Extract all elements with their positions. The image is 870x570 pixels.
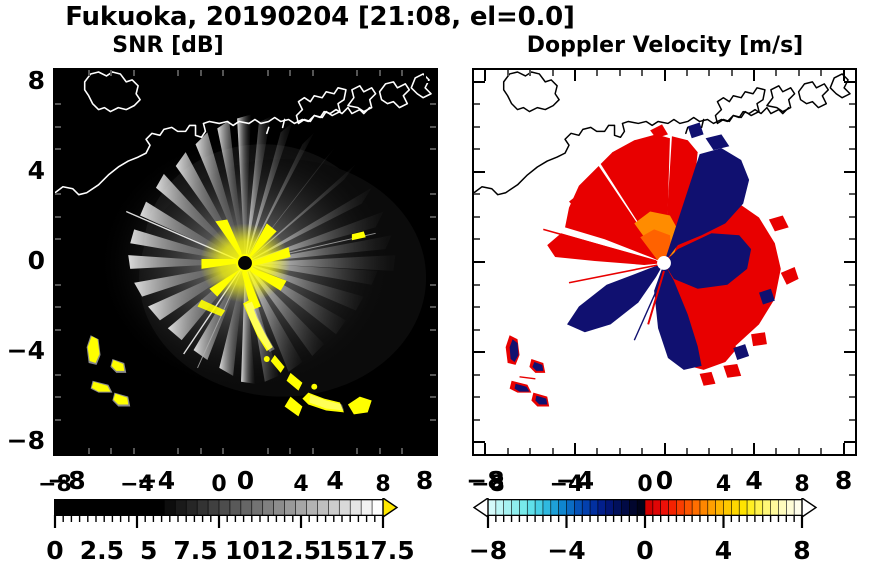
colorbar-swatch xyxy=(285,500,296,515)
colorbar-bottom-label-15: 15 xyxy=(306,536,366,565)
colorbar-swatch xyxy=(786,500,794,515)
colorbar-swatch xyxy=(132,500,143,515)
x-axis-label-4: 4 xyxy=(305,466,365,495)
colorbar-swatch xyxy=(197,500,208,515)
colorbar-swatch xyxy=(164,500,175,515)
colorbar-swatch xyxy=(339,500,350,515)
colorbar-bottom-label-4: 4 xyxy=(694,536,754,565)
y-axis-label-4: 4 xyxy=(0,156,45,185)
colorbar-top-label-8: 8 xyxy=(772,472,832,497)
colorbar-swatch xyxy=(252,500,263,515)
colorbar-bottom-label-10: 10 xyxy=(212,536,272,565)
colorbar-swatch xyxy=(567,500,575,515)
colorbar-swatch xyxy=(361,500,372,515)
colorbar-swatch xyxy=(755,500,763,515)
snr-radar-plot[interactable] xyxy=(53,68,438,456)
colorbar-arrow-left-icon xyxy=(474,498,488,517)
colorbar-swatch xyxy=(274,500,285,515)
colorbar-swatch xyxy=(574,500,582,515)
colorbar-swatch xyxy=(724,500,732,515)
colorbar-swatch xyxy=(512,500,520,515)
colorbar-bottom-label-5: 5 xyxy=(119,536,179,565)
colorbar-swatch xyxy=(739,500,747,515)
colorbar-top-label-neg4: −4 xyxy=(537,472,597,497)
x-axis-label-neg8: −8 xyxy=(455,466,515,495)
x-axis-label-neg8: −8 xyxy=(36,466,96,495)
colorbar-swatch xyxy=(263,500,274,515)
colorbar-top-label-4: 4 xyxy=(694,472,754,497)
colorbar-swatch xyxy=(519,500,527,515)
colorbar-swatch xyxy=(328,500,339,515)
snr-colorbar[interactable] xyxy=(53,498,403,532)
colorbar-swatch xyxy=(716,500,724,515)
x-axis-label-4: 4 xyxy=(724,466,784,495)
page-title: Fukuoka, 20190204 [21:08, el=0.0] xyxy=(0,2,640,32)
colorbar-bottom-label-neg8: −8 xyxy=(458,536,518,565)
colorbar-swatch xyxy=(488,500,496,515)
colorbar-top-label-4: 4 xyxy=(271,472,331,497)
x-axis-label-0: 0 xyxy=(635,466,695,495)
colorbar-top-label-0: 0 xyxy=(189,472,249,497)
colorbar-swatch xyxy=(219,500,230,515)
colorbar-swatch xyxy=(121,500,132,515)
colorbar-swatch xyxy=(708,500,716,515)
colorbar-swatch xyxy=(621,500,629,515)
colorbar-swatch xyxy=(669,500,677,515)
colorbar-swatch xyxy=(590,500,598,515)
colorbar-top-label-neg8: −8 xyxy=(25,472,85,497)
colorbar-swatch xyxy=(598,500,606,515)
colorbar-swatch xyxy=(142,500,153,515)
y-axis-label-neg4: −4 xyxy=(0,336,45,365)
x-axis-label-8: 8 xyxy=(395,466,455,495)
colorbar-swatch xyxy=(230,500,241,515)
colorbar-swatch xyxy=(637,500,645,515)
colorbar-arrow-right-icon xyxy=(383,498,397,517)
colorbar-swatch xyxy=(350,500,361,515)
colorbar-swatch xyxy=(684,500,692,515)
doppler-radar-plot[interactable] xyxy=(472,68,857,456)
colorbar-swatch xyxy=(763,500,771,515)
x-axis-label-8: 8 xyxy=(814,466,870,495)
colorbar-swatch xyxy=(551,500,559,515)
colorbar-swatch xyxy=(77,500,88,515)
colorbar-swatch xyxy=(700,500,708,515)
x-axis-label-neg4: −4 xyxy=(126,466,186,495)
colorbar-swatch xyxy=(645,500,653,515)
x-axis-label-0: 0 xyxy=(216,466,276,495)
colorbar-swatch xyxy=(110,500,121,515)
colorbar-swatch xyxy=(175,500,186,515)
colorbar-swatch xyxy=(543,500,551,515)
colorbar-bottom-label-8: 8 xyxy=(772,536,832,565)
colorbar-top-label-neg8: −8 xyxy=(458,472,518,497)
colorbar-swatch xyxy=(676,500,684,515)
colorbar-swatch xyxy=(372,500,383,515)
colorbar-bottom-label-0: 0 xyxy=(615,536,675,565)
colorbar-swatch xyxy=(653,500,661,515)
snr-colorbar-canvas xyxy=(53,498,403,532)
y-axis-label-8: 8 xyxy=(0,66,45,95)
colorbar-swatch xyxy=(771,500,779,515)
colorbar-swatch xyxy=(55,500,66,515)
colorbar-swatch xyxy=(317,500,328,515)
colorbar-bottom-label-12_5: 12.5 xyxy=(259,536,319,565)
colorbar-swatch xyxy=(582,500,590,515)
doppler-colorbar[interactable] xyxy=(472,498,822,532)
colorbar-swatch xyxy=(504,500,512,515)
colorbar-swatch xyxy=(99,500,110,515)
colorbar-top-label-8: 8 xyxy=(353,472,413,497)
y-axis-label-0: 0 xyxy=(0,246,45,275)
colorbar-swatch xyxy=(661,500,669,515)
colorbar-swatch xyxy=(241,500,252,515)
colorbar-swatch xyxy=(296,500,307,515)
colorbar-swatch xyxy=(629,500,637,515)
colorbar-swatch xyxy=(88,500,99,515)
colorbar-swatch xyxy=(153,500,164,515)
colorbar-top-label-neg4: −4 xyxy=(107,472,167,497)
colorbar-arrow-right-icon xyxy=(802,498,816,517)
colorbar-swatch xyxy=(606,500,614,515)
colorbar-swatch xyxy=(692,500,700,515)
colorbar-swatch xyxy=(614,500,622,515)
colorbar-swatch xyxy=(496,500,504,515)
colorbar-swatch xyxy=(306,500,317,515)
snr-plot-canvas xyxy=(55,70,436,454)
doppler-panel-title: Doppler Velocity [m/s] xyxy=(472,33,858,58)
colorbar-bottom-label-7_5: 7.5 xyxy=(166,536,226,565)
colorbar-swatch xyxy=(535,500,543,515)
colorbar-swatch xyxy=(794,500,802,515)
colorbar-swatch xyxy=(747,500,755,515)
colorbar-swatch xyxy=(186,500,197,515)
doppler-colorbar-canvas xyxy=(472,498,822,532)
colorbar-swatch xyxy=(778,500,786,515)
colorbar-swatch xyxy=(208,500,219,515)
colorbar-swatch xyxy=(559,500,567,515)
snr-panel-title: SNR [dB] xyxy=(53,33,283,58)
colorbar-top-label-0: 0 xyxy=(615,472,675,497)
x-axis-label-neg4: −4 xyxy=(545,466,605,495)
colorbar-swatch xyxy=(66,500,77,515)
colorbar-bottom-label-neg4: −4 xyxy=(537,536,597,565)
doppler-plot-canvas xyxy=(474,70,855,454)
colorbar-bottom-label-2_5: 2.5 xyxy=(72,536,132,565)
colorbar-bottom-label-17_5: 17.5 xyxy=(353,536,413,565)
colorbar-swatch xyxy=(731,500,739,515)
y-axis-label-neg8: −8 xyxy=(0,426,45,455)
colorbar-swatch xyxy=(527,500,535,515)
colorbar-bottom-label-0: 0 xyxy=(25,536,85,565)
